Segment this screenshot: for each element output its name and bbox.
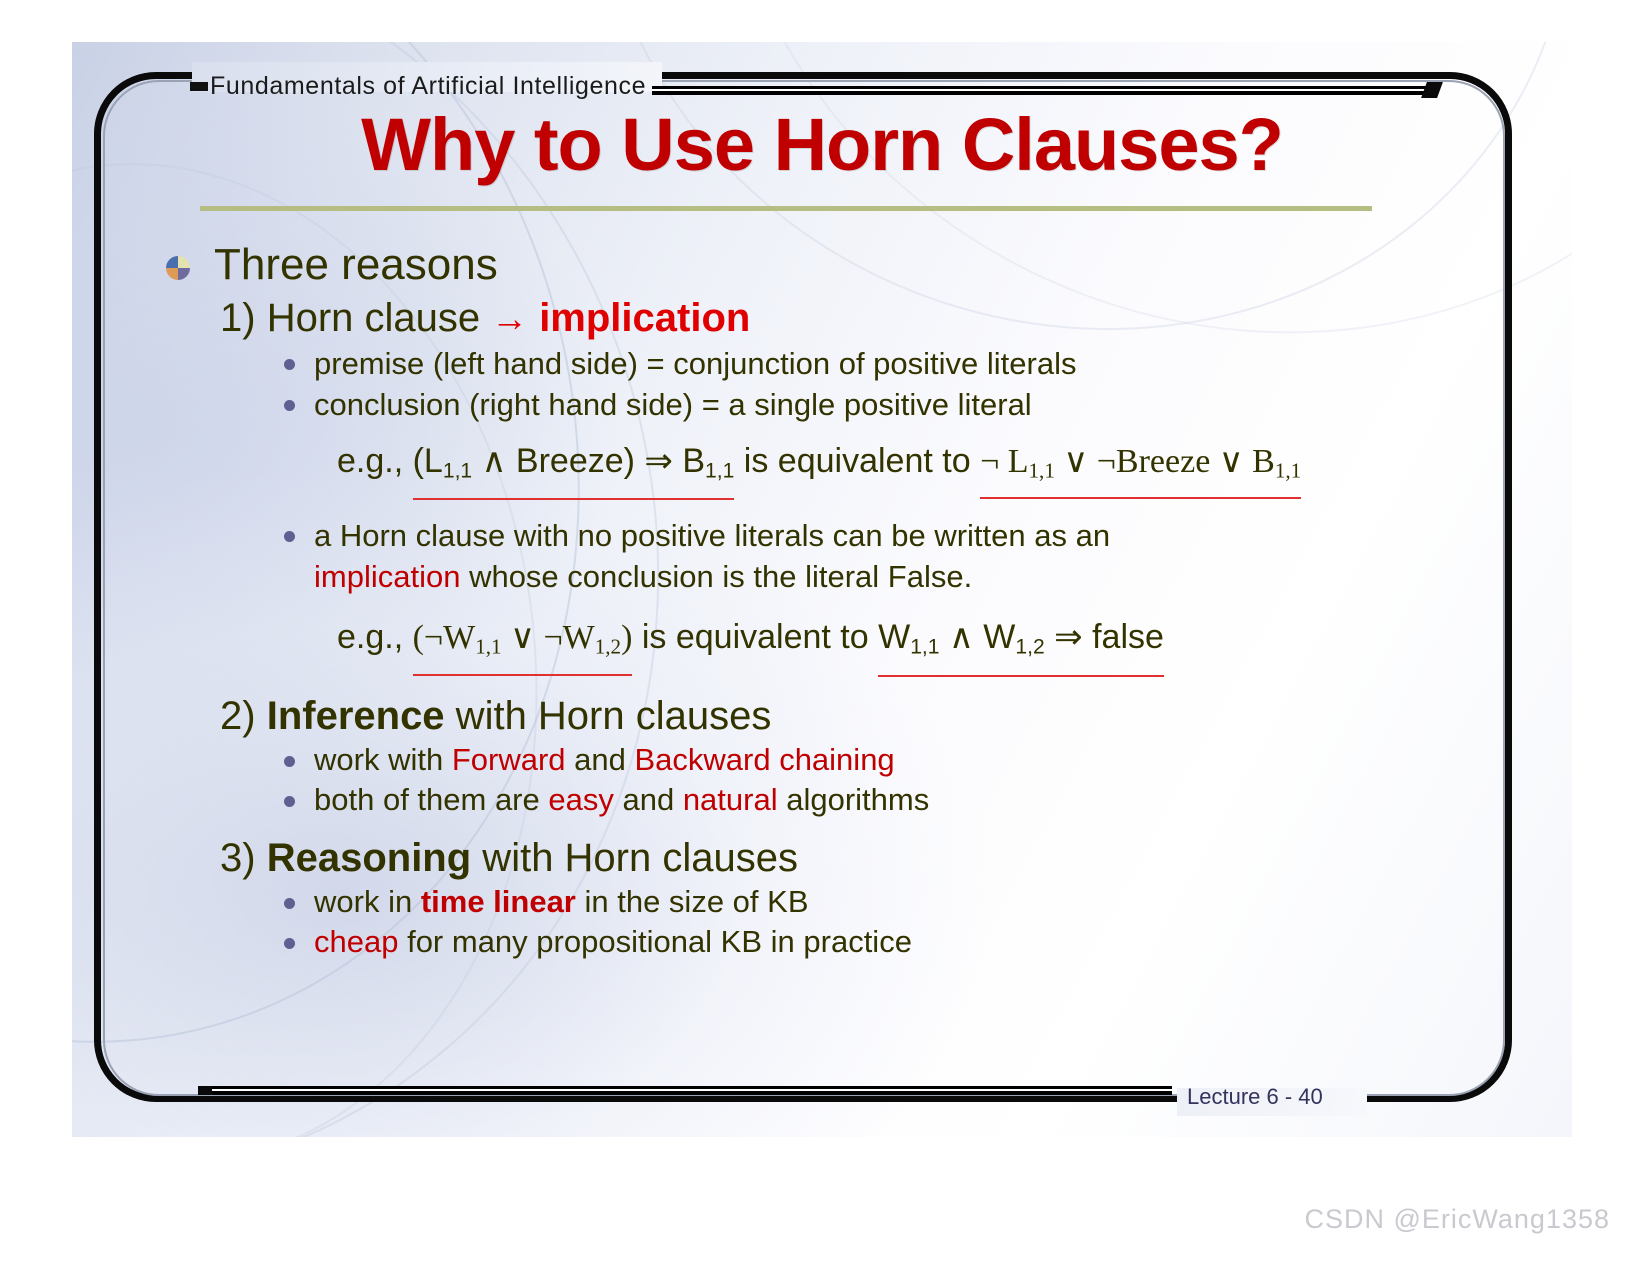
sub-bullet-cheap: cheap for many propositional KB in pract… xyxy=(152,922,1492,962)
header-tick-mark xyxy=(190,82,208,91)
round-bullet-icon xyxy=(284,400,295,411)
sub-bullet-label: premise (left hand side) = conjunction o… xyxy=(314,346,1076,381)
example-1-lhs: (L1,1 ∧ Breeze) ⇒ B1,1 xyxy=(413,439,735,493)
lhs-sub-a: 1,1 xyxy=(475,635,501,659)
footer-rule xyxy=(212,1086,1172,1095)
lhs-mid: ∧ Breeze) ⇒ B xyxy=(472,442,705,480)
sub-bullet-conclusion: conclusion (right hand side) = a single … xyxy=(152,384,1492,425)
example-line-2: e.g., (¬W1,1 ∨ ¬W1,2) is equivalent to W… xyxy=(152,597,1492,669)
slide-canvas: Fundamentals of Artificial Intelligence … xyxy=(72,42,1572,1137)
rhs-mid: ∨ ¬Breeze ∨ B xyxy=(1055,443,1275,480)
round-bullet-icon xyxy=(284,938,295,949)
sub-bullet-label: conclusion (right hand side) = a single … xyxy=(314,387,1032,422)
highlight-part: easy xyxy=(548,782,613,817)
lhs-mid: ∨ ¬W xyxy=(502,619,595,656)
lhs-sub-b: 1,1 xyxy=(705,459,734,482)
example-prefix: e.g., xyxy=(337,442,413,480)
lhs-open: (¬W xyxy=(413,619,476,656)
watermark-text: CSDN @EricWang1358 xyxy=(1304,1204,1610,1235)
item-2-rest: with Horn clauses xyxy=(445,694,772,738)
item-3-rest: with Horn clauses xyxy=(471,836,798,880)
lhs-close: ) xyxy=(621,619,632,656)
item-1-number: 1) xyxy=(220,296,256,340)
lecture-number: Lecture 6 - 40 xyxy=(1187,1084,1323,1110)
rhs-w1: W xyxy=(878,618,910,656)
sub-bullet-time-linear: work in time linear in the size of KB xyxy=(152,882,1492,922)
rhs-neg: ¬ L xyxy=(980,443,1028,480)
rhs-sub-b: 1,1 xyxy=(1275,458,1301,482)
item-2-bold: Inference xyxy=(267,694,445,738)
lhs-sub-b: 1,2 xyxy=(595,635,621,659)
highlight-part: cheap xyxy=(314,924,398,959)
example-2-lhs: (¬W1,1 ∨ ¬W1,2) xyxy=(413,615,633,668)
text-part: and xyxy=(566,742,635,777)
rhs-sub-a: 1,1 xyxy=(910,636,939,659)
item-1-highlight: implication xyxy=(539,296,750,340)
example-middle: is equivalent to xyxy=(632,618,878,656)
text-part: work with xyxy=(314,742,452,777)
round-bullet-icon xyxy=(284,359,295,370)
round-bullet-icon xyxy=(284,756,295,767)
right-arrow-icon: → xyxy=(491,298,528,339)
numbered-item-1: 1) Horn clause → implication xyxy=(152,294,1492,343)
rhs-tail: ⇒ false xyxy=(1045,618,1164,656)
rhs-sub-a: 1,1 xyxy=(1029,458,1055,482)
text-part: for many propositional KB in practice xyxy=(398,924,911,959)
text-part: in the size of KB xyxy=(576,884,809,919)
text-part: and xyxy=(614,782,683,817)
example-2-rhs: W1,1 ∧ W1,2 ⇒ false xyxy=(878,615,1164,669)
rhs-sub-b: 1,2 xyxy=(1015,636,1044,659)
highlight-part: natural xyxy=(683,782,778,817)
text-part: algorithms xyxy=(778,782,930,817)
item-2-number: 2) xyxy=(220,694,256,738)
quad-bullet-icon xyxy=(166,256,190,280)
example-prefix: e.g., xyxy=(337,618,413,656)
sub-bullet-no-positive-literals: a Horn clause with no positive literals … xyxy=(152,493,1492,597)
sub-bullet-easy-natural: both of them are easy and natural algori… xyxy=(152,780,1492,820)
highlight-part: time linear xyxy=(421,884,576,919)
page-title: Why to Use Horn Clauses? xyxy=(72,102,1572,187)
sub-bullet-premise: premise (left hand side) = conjunction o… xyxy=(152,343,1492,384)
rhs-mid: ∧ W xyxy=(940,618,1016,656)
round-bullet-icon xyxy=(284,898,295,909)
slide-page: Fundamentals of Artificial Intelligence … xyxy=(0,0,1650,1275)
example-line-1: e.g., (L1,1 ∧ Breeze) ⇒ B1,1 is equivale… xyxy=(152,425,1492,493)
header-rule xyxy=(652,86,1432,95)
sub-bullet-highlight: implication xyxy=(314,559,460,594)
text-part: work in xyxy=(314,884,421,919)
round-bullet-icon xyxy=(284,796,295,807)
highlight-part: Forward xyxy=(452,742,566,777)
bullet-three-reasons: Three reasons xyxy=(152,240,1492,290)
item-1-text: Horn clause xyxy=(267,296,480,340)
lhs-sub-a: 1,1 xyxy=(443,459,472,482)
item-3-bold: Reasoning xyxy=(267,836,471,880)
highlight-part: Backward chaining xyxy=(634,742,894,777)
bullet-label: Three reasons xyxy=(214,240,498,289)
lhs-open: (L xyxy=(413,442,443,480)
round-bullet-icon xyxy=(284,531,295,542)
text-part: both of them are xyxy=(314,782,548,817)
example-1-rhs: ¬ L1,1 ∨ ¬Breeze ∨ B1,1 xyxy=(980,440,1301,492)
slide-body: Three reasons 1) Horn clause → implicati… xyxy=(152,240,1492,962)
sub-bullet-chaining: work with Forward and Backward chaining xyxy=(152,740,1492,780)
sub-bullet-line-2: whose conclusion is the literal False. xyxy=(460,559,972,594)
course-title: Fundamentals of Artificial Intelligence xyxy=(210,72,646,101)
numbered-item-3: 3) Reasoning with Horn clauses xyxy=(152,820,1492,882)
numbered-item-2: 2) Inference with Horn clauses xyxy=(152,670,1492,740)
example-middle: is equivalent to xyxy=(734,442,980,480)
sub-bullet-line-1: a Horn clause with no positive literals … xyxy=(314,518,1110,553)
item-3-number: 3) xyxy=(220,836,256,880)
title-underline-rule xyxy=(200,206,1372,211)
